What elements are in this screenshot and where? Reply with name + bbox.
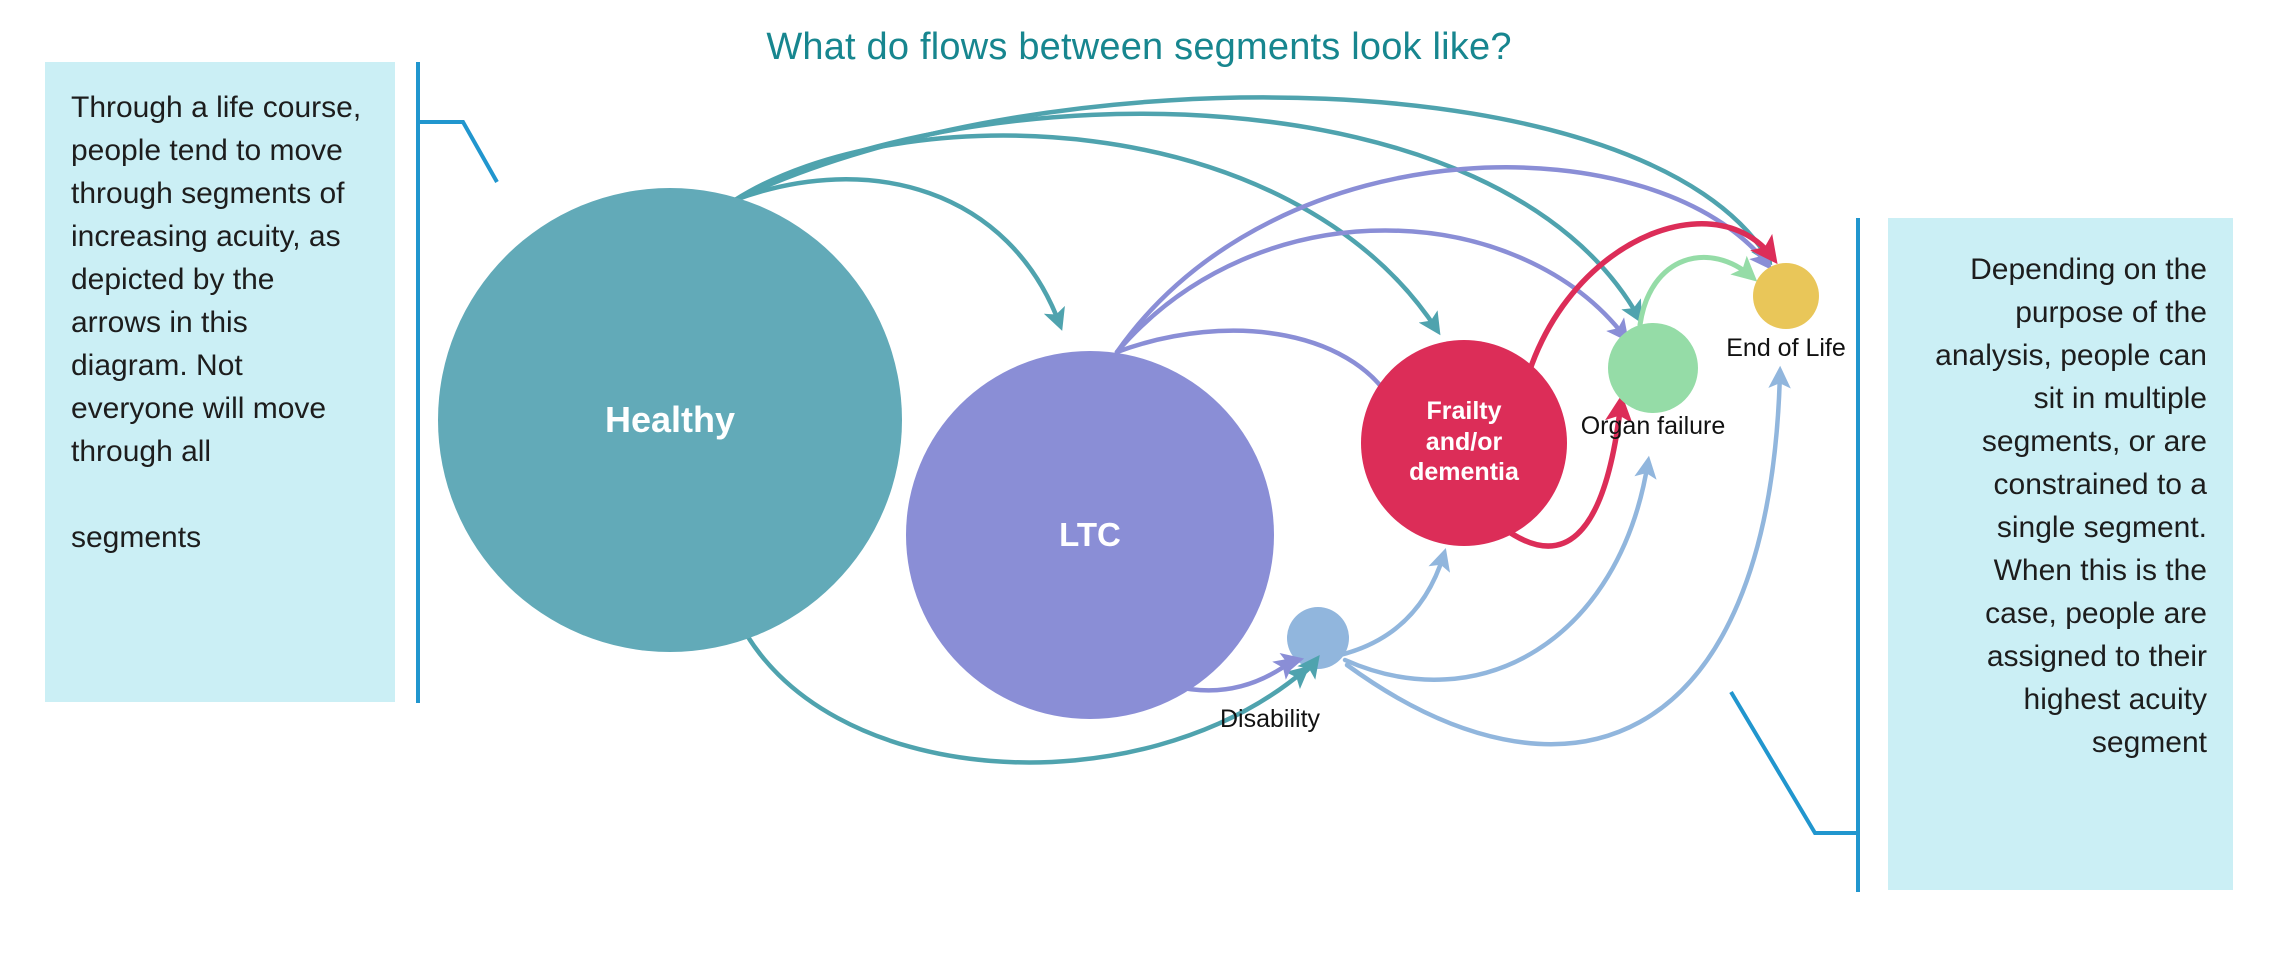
node-organfailure	[1608, 323, 1698, 413]
node-endoflife	[1753, 263, 1819, 329]
node-frailty	[1361, 340, 1567, 546]
left-annotation-paragraph-1: Through a life course, people tend to mo…	[71, 86, 369, 473]
flow-ltc-endoflife	[1117, 167, 1768, 352]
right-annotation-paragraph-1: Depending on the purpose of the analysis…	[1914, 248, 2207, 764]
left-annotation-paragraph-2: segments	[71, 516, 369, 559]
right-annotation: Depending on the purpose of the analysis…	[1888, 218, 2233, 890]
node-ltc	[906, 351, 1274, 719]
left-annotation: Through a life course, people tend to mo…	[45, 62, 395, 702]
flow-organfailure-endoflife	[1640, 257, 1752, 325]
node-healthy	[438, 188, 902, 652]
flow-disability-frailty	[1340, 554, 1444, 655]
diagram-canvas: What do flows between segments look like…	[0, 0, 2278, 955]
flow-group-organfailure	[1640, 257, 1752, 325]
